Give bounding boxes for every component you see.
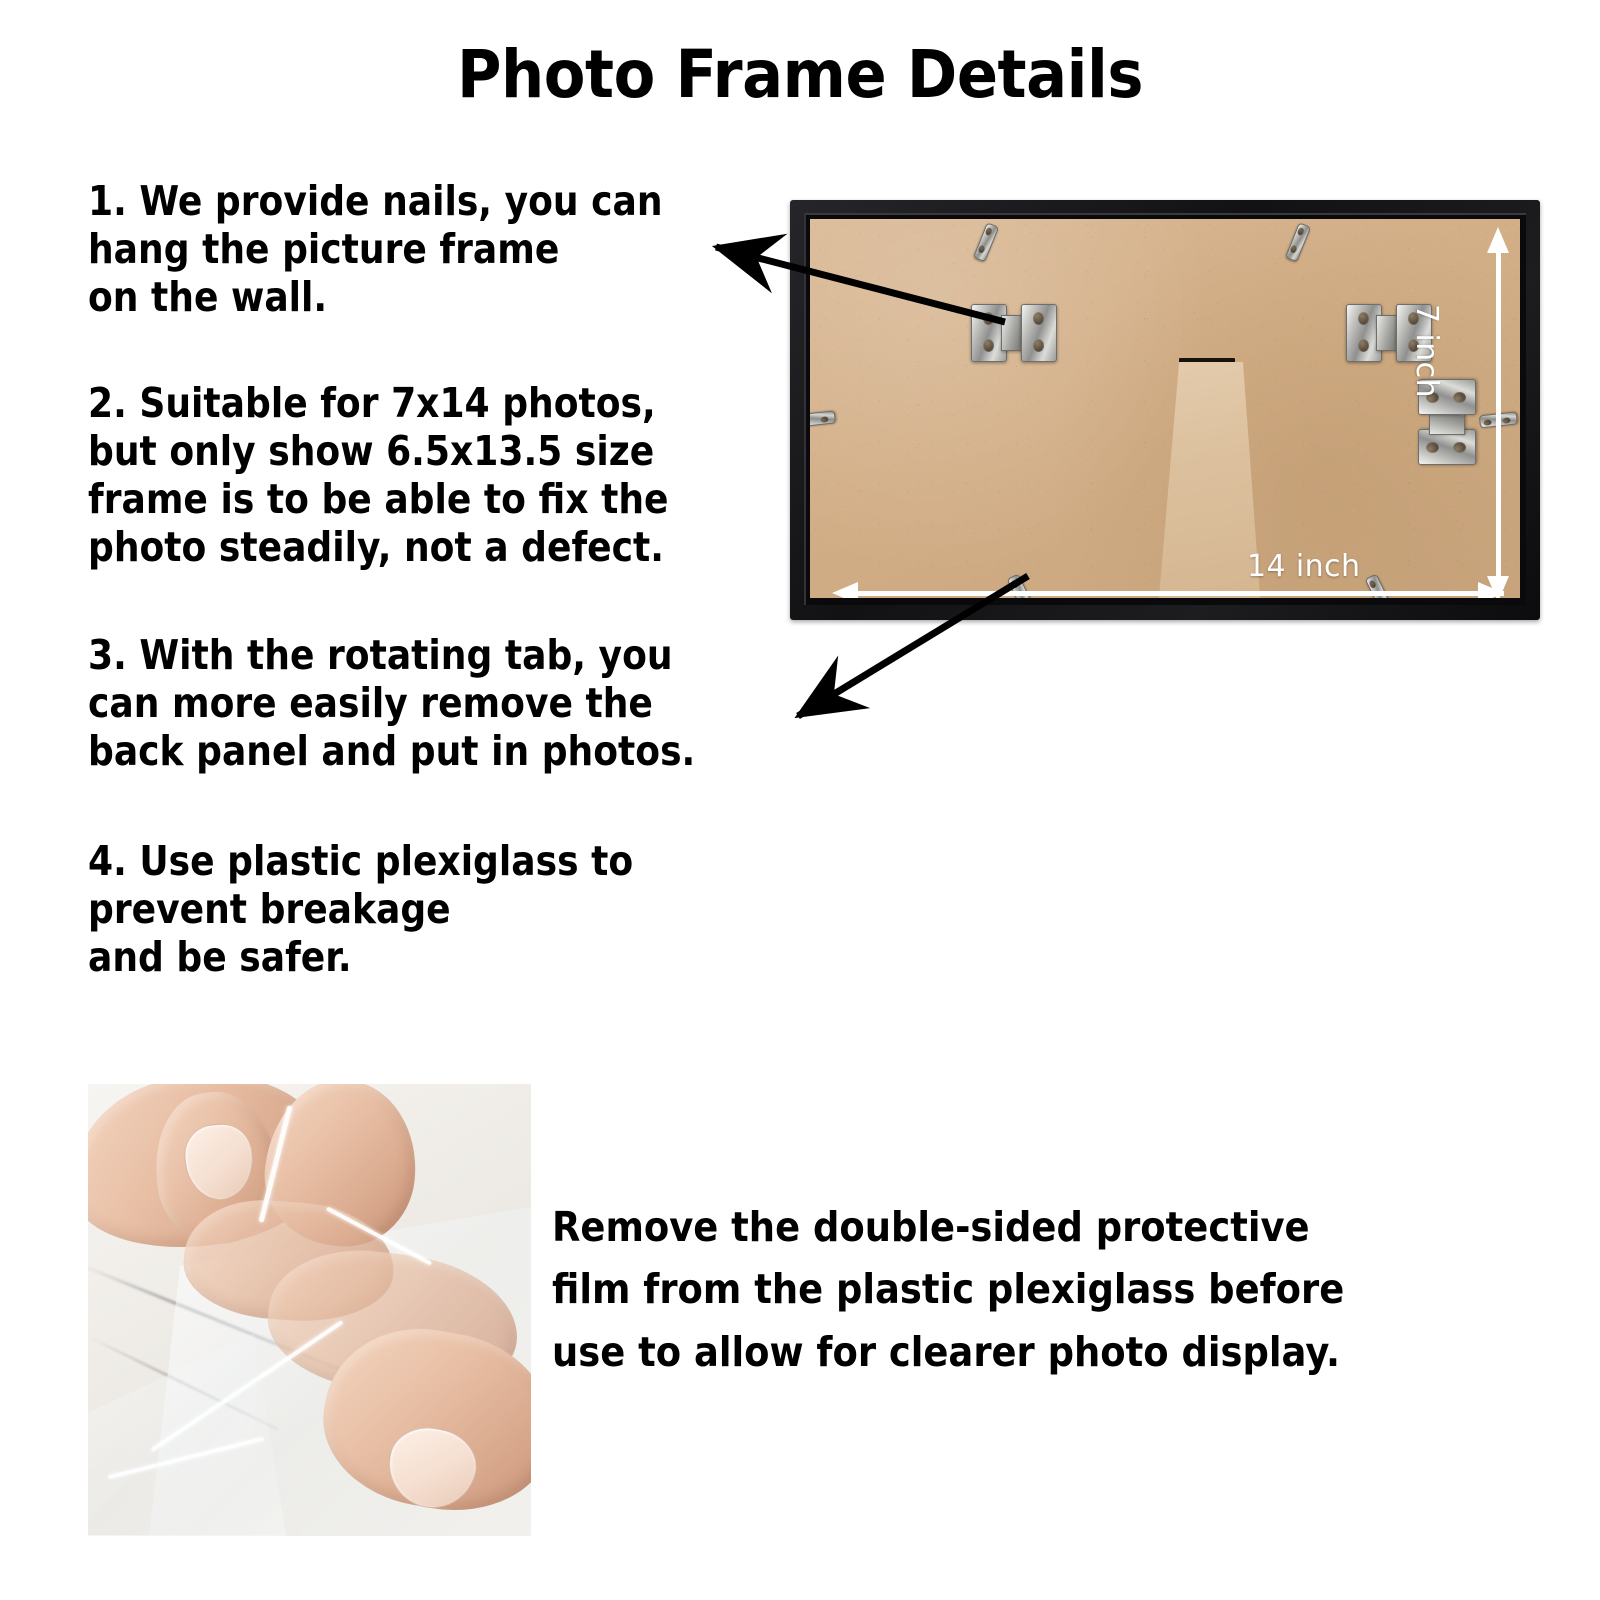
- kraft-backing-board: 14 inch 7 inch: [810, 219, 1520, 598]
- instruction-list: 1. We provide nails, you can hang the pi…: [88, 178, 808, 982]
- instruction-item-3: 3. With the rotating tab, you can more e…: [88, 632, 722, 776]
- width-arrow-left-icon: [832, 582, 858, 598]
- width-dimension-label: 14 inch: [1247, 549, 1360, 584]
- instruction-item-4: 4. Use plastic plexiglass to prevent bre…: [88, 838, 722, 982]
- height-arrow-up-icon: [1487, 227, 1509, 253]
- width-dimension-line: [850, 591, 1504, 596]
- height-dimension-line: [1496, 241, 1501, 596]
- hanging-hardware-icon: [971, 304, 1057, 360]
- height-arrow-down-icon: [1487, 576, 1509, 598]
- height-dimension-label: 7 inch: [1409, 304, 1444, 398]
- bottom-caption: Remove the double-sided protective film …: [552, 1196, 1416, 1383]
- protective-film-photo: [88, 1084, 531, 1536]
- instruction-item-1: 1. We provide nails, you can hang the pi…: [88, 178, 722, 322]
- page-title: Photo Frame Details: [64, 36, 1536, 113]
- instruction-item-2: 2. Suitable for 7x14 photos, but only sh…: [88, 380, 722, 572]
- frame-back-photo: 14 inch 7 inch: [790, 200, 1540, 620]
